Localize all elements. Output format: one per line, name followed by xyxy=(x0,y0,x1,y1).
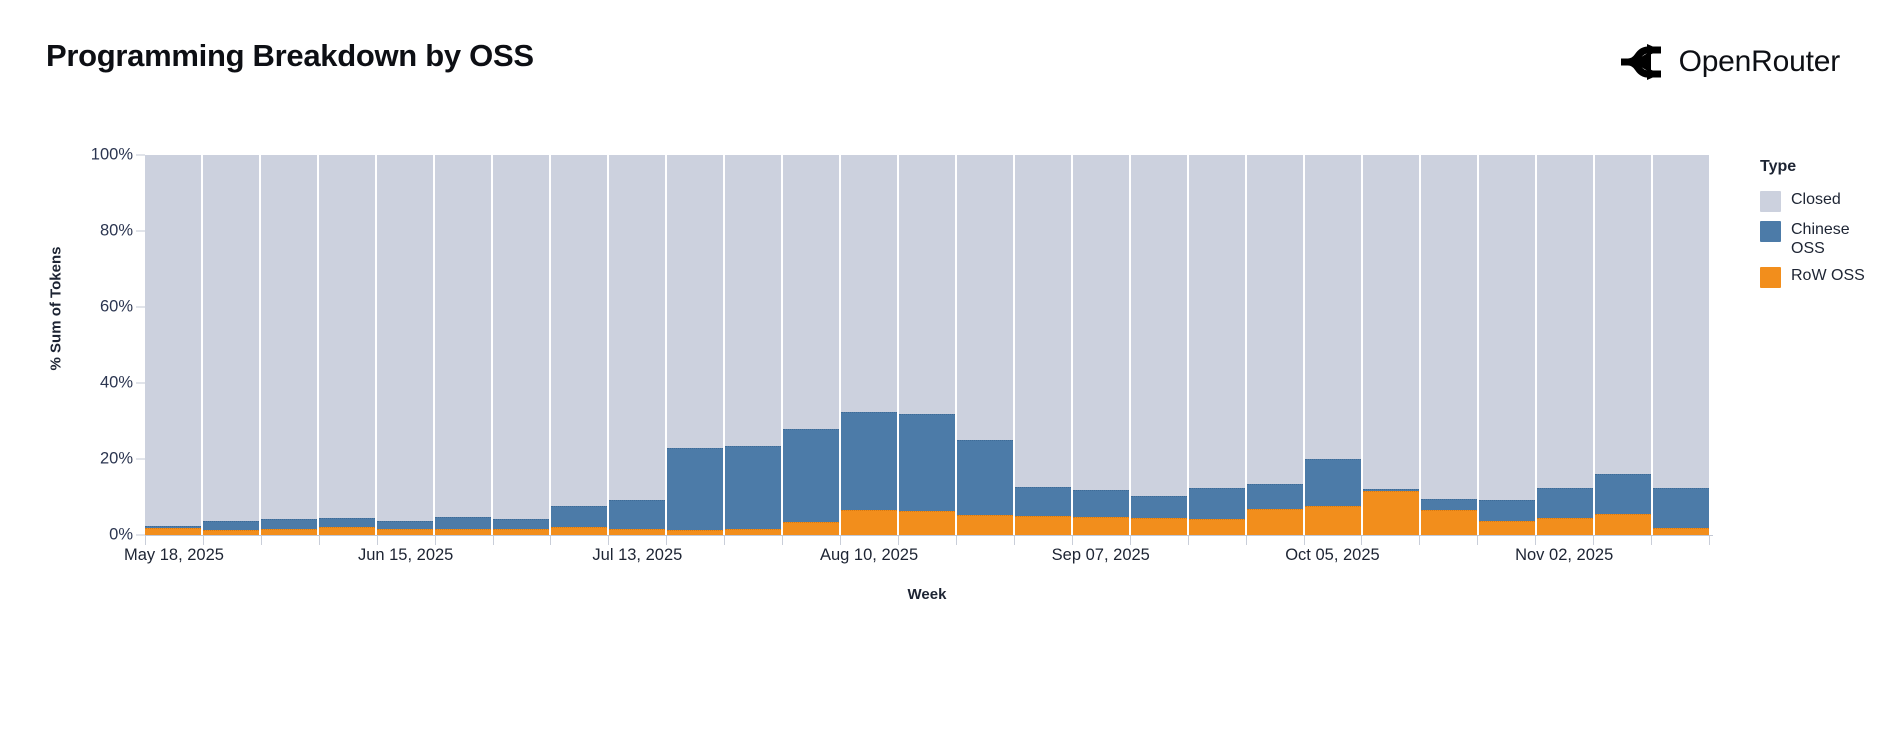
bar-segment-chinese-oss xyxy=(1131,496,1187,518)
legend-item[interactable]: Chinese OSS xyxy=(1760,220,1878,258)
bar-column[interactable] xyxy=(1073,155,1131,535)
bar-column[interactable] xyxy=(1363,155,1421,535)
bar-segment-closed xyxy=(319,155,375,518)
legend-item-label: RoW OSS xyxy=(1791,266,1865,285)
bar-segment-closed xyxy=(203,155,259,521)
x-axis-tick-label: Oct 05, 2025 xyxy=(1285,546,1379,565)
bar-column[interactable] xyxy=(667,155,725,535)
bar-segment-chinese-oss xyxy=(1073,490,1129,517)
bar-column[interactable] xyxy=(1131,155,1189,535)
bar-segment-chinese-oss xyxy=(1305,459,1361,506)
bar-column[interactable] xyxy=(493,155,551,535)
bar-segment-row-oss xyxy=(1073,517,1129,535)
x-axis-tickmark xyxy=(1246,536,1247,545)
bar-column[interactable] xyxy=(609,155,667,535)
legend-swatch xyxy=(1760,267,1781,288)
bar-segment-closed xyxy=(1015,155,1071,487)
legend-item[interactable]: RoW OSS xyxy=(1760,266,1878,288)
bar-column[interactable] xyxy=(203,155,261,535)
x-axis-tickmark xyxy=(898,536,899,545)
bar-segment-closed xyxy=(551,155,607,506)
y-axis-tickmark xyxy=(136,155,145,156)
bar-column[interactable] xyxy=(319,155,377,535)
bar-segment-closed xyxy=(1595,155,1651,474)
bar-segment-closed xyxy=(261,155,317,519)
x-axis-tickmark xyxy=(1188,536,1189,545)
x-axis-tickmark xyxy=(1651,536,1652,545)
bar-segment-closed xyxy=(1363,155,1419,489)
bar-column[interactable] xyxy=(1421,155,1479,535)
y-axis-tickmark xyxy=(136,307,145,308)
chart-container: % Sum of Tokens 100%80%60%40%20%0% May 1… xyxy=(0,0,1880,734)
bar-column[interactable] xyxy=(1247,155,1305,535)
x-axis-tick-label: Nov 02, 2025 xyxy=(1515,546,1613,565)
legend-item-label: Chinese OSS xyxy=(1791,220,1878,258)
x-axis-tickmark xyxy=(1419,536,1420,545)
bar-segment-row-oss xyxy=(1537,518,1593,535)
bar-segment-closed xyxy=(841,155,897,412)
x-axis-tickmark xyxy=(608,536,609,545)
x-axis-tickmark xyxy=(145,536,146,545)
bar-segment-chinese-oss xyxy=(435,517,491,529)
legend-swatch xyxy=(1760,191,1781,212)
y-axis-tickmark xyxy=(136,231,145,232)
x-axis-tickmark xyxy=(1593,536,1594,545)
bar-segment-chinese-oss xyxy=(493,519,549,529)
bar-segment-chinese-oss xyxy=(1421,499,1477,510)
bar-segment-chinese-oss xyxy=(667,448,723,531)
bar-segment-chinese-oss xyxy=(1479,500,1535,520)
y-axis-tick-label: 60% xyxy=(100,298,133,317)
bar-segment-closed xyxy=(725,155,781,446)
y-axis-tick-label: 20% xyxy=(100,450,133,469)
bar-segment-closed xyxy=(1189,155,1245,488)
legend-swatch xyxy=(1760,221,1781,242)
bar-segment-closed xyxy=(1479,155,1535,500)
bar-segment-row-oss xyxy=(841,510,897,535)
bar-column[interactable] xyxy=(899,155,957,535)
y-axis-tick-label: 80% xyxy=(100,222,133,241)
x-axis-tickmark xyxy=(435,536,436,545)
bar-segment-chinese-oss xyxy=(1189,488,1245,519)
x-axis-tick-label: Sep 07, 2025 xyxy=(1052,546,1150,565)
bar-segment-row-oss xyxy=(1653,528,1709,535)
bar-segment-row-oss xyxy=(957,515,1013,535)
bar-segment-closed xyxy=(1653,155,1709,488)
x-axis-tickmark xyxy=(1709,536,1710,545)
x-axis-tickmark xyxy=(666,536,667,545)
y-axis-tickmark xyxy=(136,535,145,536)
x-axis-tickmark xyxy=(1361,536,1362,545)
bar-column[interactable] xyxy=(145,155,203,535)
bar-segment-chinese-oss xyxy=(1015,487,1071,516)
x-axis-tickmark xyxy=(550,536,551,545)
bar-column[interactable] xyxy=(261,155,319,535)
legend-items: ClosedChinese OSSRoW OSS xyxy=(1760,190,1878,288)
bar-segment-row-oss xyxy=(1479,521,1535,535)
bar-column[interactable] xyxy=(1189,155,1247,535)
x-axis-tick-label: Aug 10, 2025 xyxy=(820,546,918,565)
bar-segment-row-oss xyxy=(145,528,201,535)
x-axis-tickmark xyxy=(1014,536,1015,545)
x-axis-tickmark xyxy=(724,536,725,545)
bar-column[interactable] xyxy=(377,155,435,535)
bar-segment-chinese-oss xyxy=(1247,484,1303,509)
bar-segment-chinese-oss xyxy=(1537,488,1593,518)
bar-segment-closed xyxy=(609,155,665,500)
bar-segment-chinese-oss xyxy=(203,521,259,530)
bar-segment-row-oss xyxy=(319,527,375,535)
x-axis-tick-label: Jun 15, 2025 xyxy=(358,546,453,565)
bar-segment-closed xyxy=(1305,155,1361,459)
y-axis-tick-label: 0% xyxy=(109,526,133,545)
bar-segment-chinese-oss xyxy=(551,506,607,527)
bar-segment-row-oss xyxy=(1595,514,1651,535)
x-axis-tickmark xyxy=(493,536,494,545)
bar-segment-chinese-oss xyxy=(841,412,897,510)
bar-series-group xyxy=(145,155,1709,535)
bar-segment-closed xyxy=(1073,155,1129,490)
y-axis-tick-label: 40% xyxy=(100,374,133,393)
legend-item-label: Closed xyxy=(1791,190,1841,209)
bar-segment-row-oss xyxy=(1131,518,1187,535)
bar-segment-closed xyxy=(1537,155,1593,488)
bar-column[interactable] xyxy=(783,155,841,535)
bar-segment-row-oss xyxy=(1247,509,1303,535)
legend-title: Type xyxy=(1760,158,1878,176)
bar-segment-chinese-oss xyxy=(783,429,839,522)
chart-page: Programming Breakdown by OSS OpenRouter … xyxy=(0,0,1880,734)
bar-segment-chinese-oss xyxy=(1595,474,1651,515)
bar-segment-row-oss xyxy=(1421,510,1477,535)
bar-column[interactable] xyxy=(1015,155,1073,535)
bar-column[interactable] xyxy=(841,155,899,535)
bar-segment-chinese-oss xyxy=(1653,488,1709,528)
bar-segment-closed xyxy=(783,155,839,429)
bar-segment-row-oss xyxy=(783,522,839,535)
bar-column[interactable] xyxy=(1537,155,1595,535)
bar-segment-closed xyxy=(1247,155,1303,484)
x-axis-tickmark xyxy=(1304,536,1305,545)
bar-column[interactable] xyxy=(1305,155,1363,535)
x-axis-tick-label: Jul 13, 2025 xyxy=(592,546,682,565)
x-axis-tickmark xyxy=(203,536,204,545)
bar-column[interactable] xyxy=(957,155,1015,535)
bar-segment-chinese-oss xyxy=(899,414,955,512)
x-axis-tickmark xyxy=(1535,536,1536,545)
x-axis-tickmark xyxy=(319,536,320,545)
bar-segment-chinese-oss xyxy=(725,446,781,529)
bar-segment-closed xyxy=(957,155,1013,440)
bar-segment-row-oss xyxy=(1015,516,1071,535)
x-axis-tickmark xyxy=(956,536,957,545)
bar-column[interactable] xyxy=(1595,155,1653,535)
y-axis-tickmark xyxy=(136,383,145,384)
bar-segment-closed xyxy=(435,155,491,517)
x-axis-title: Week xyxy=(145,586,1709,603)
x-axis-tickmark xyxy=(782,536,783,545)
y-axis-tick-label: 100% xyxy=(91,146,133,165)
x-axis-tickmark xyxy=(1477,536,1478,545)
y-axis-ticks: 100%80%60%40%20%0% xyxy=(0,0,145,734)
bar-segment-row-oss xyxy=(1189,519,1245,535)
bar-segment-chinese-oss xyxy=(609,500,665,530)
x-axis-tick-label: May 18, 2025 xyxy=(124,546,224,565)
x-axis-tickmark xyxy=(1130,536,1131,545)
bar-column[interactable] xyxy=(725,155,783,535)
y-axis-tickmark xyxy=(136,459,145,460)
bar-segment-closed xyxy=(493,155,549,519)
plot-area xyxy=(145,155,1709,535)
bar-column[interactable] xyxy=(551,155,609,535)
bar-column[interactable] xyxy=(435,155,493,535)
x-axis-tickmark xyxy=(261,536,262,545)
legend-item[interactable]: Closed xyxy=(1760,190,1878,212)
bar-segment-row-oss xyxy=(551,527,607,535)
legend: Type ClosedChinese OSSRoW OSS xyxy=(1760,158,1878,296)
bar-segment-row-oss xyxy=(1363,491,1419,535)
bar-segment-closed xyxy=(145,155,201,526)
bar-column[interactable] xyxy=(1479,155,1537,535)
bar-segment-row-oss xyxy=(899,511,955,535)
x-axis-labels: May 18, 2025Jun 15, 2025Jul 13, 2025Aug … xyxy=(0,546,1880,576)
bar-segment-chinese-oss xyxy=(957,440,1013,515)
bar-segment-closed xyxy=(667,155,723,448)
bar-segment-closed xyxy=(377,155,433,521)
bar-segment-chinese-oss xyxy=(319,518,375,527)
x-axis-tickmark xyxy=(1072,536,1073,545)
bar-segment-chinese-oss xyxy=(261,519,317,529)
bar-segment-chinese-oss xyxy=(377,521,433,529)
x-axis-tickmark xyxy=(840,536,841,545)
x-axis-tickmark xyxy=(377,536,378,545)
bar-segment-closed xyxy=(899,155,955,414)
bar-column[interactable] xyxy=(1653,155,1709,535)
bar-segment-closed xyxy=(1131,155,1187,496)
bar-segment-row-oss xyxy=(1305,506,1361,535)
bar-segment-closed xyxy=(1421,155,1477,499)
